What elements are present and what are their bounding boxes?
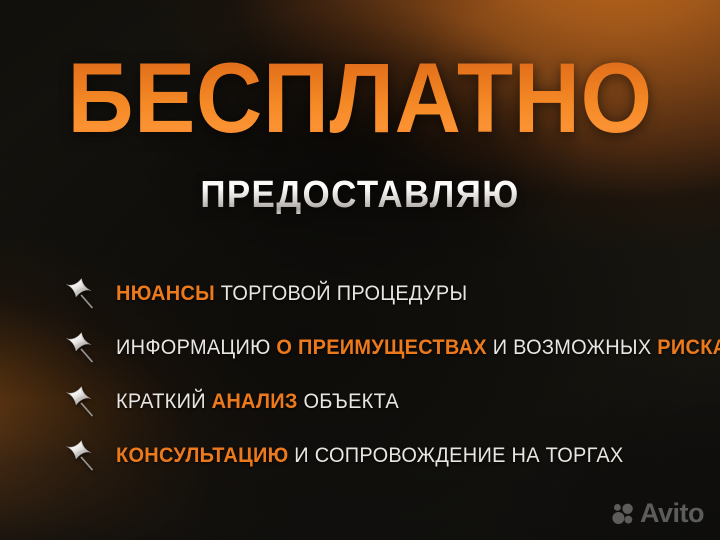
bullet-text-segment: ОБЪЕКТА [298, 390, 399, 413]
pushpin-icon [60, 273, 102, 313]
bullet-text-segment: ИНФОРМАЦИЮ [116, 336, 276, 359]
bullet-item: КРАТКИЙ АНАЛИЗ ОБЪЕКТА [60, 374, 720, 428]
bullet-text-segment: И СОПРОВОЖДЕНИЕ НА ТОРГАХ [288, 444, 623, 467]
bullet-item: ИНФОРМАЦИЮ О ПРЕИМУЩЕСТВАХ И ВОЗМОЖНЫХ Р… [60, 320, 720, 374]
bullet-text-segment: КОНСУЛЬТАЦИЮ [116, 444, 288, 467]
avito-logo-icon [612, 503, 636, 525]
bullet-text-segment: АНАЛИЗ [212, 390, 298, 413]
banner-content: БЕСПЛАТНО ПРЕДОСТАВЛЯЮ НЮАНСЫ ТОРГОВОЙ П… [0, 0, 720, 540]
bullet-text: НЮАНСЫ ТОРГОВОЙ ПРОЦЕДУРЫ [116, 283, 467, 304]
pushpin-icon [60, 435, 102, 475]
pushpin-icon [60, 381, 102, 421]
bullet-text: КРАТКИЙ АНАЛИЗ ОБЪЕКТА [116, 391, 399, 412]
headline: БЕСПЛАТНО [25, 48, 695, 147]
subheadline: ПРЕДОСТАВЛЯЮ [29, 176, 691, 214]
avito-watermark: Avito [612, 500, 704, 527]
pushpin-icon [60, 327, 102, 367]
bullet-item: НЮАНСЫ ТОРГОВОЙ ПРОЦЕДУРЫ [60, 266, 720, 320]
bullet-text: ИНФОРМАЦИЮ О ПРЕИМУЩЕСТВАХ И ВОЗМОЖНЫХ Р… [116, 337, 720, 358]
bullet-text-segment: НЮАНСЫ [116, 282, 215, 305]
bullet-text-segment: ТОРГОВОЙ ПРОЦЕДУРЫ [215, 282, 467, 305]
bullet-text: КОНСУЛЬТАЦИЮ И СОПРОВОЖДЕНИЕ НА ТОРГАХ [116, 445, 624, 466]
bullet-text-segment: КРАТКИЙ [116, 390, 212, 413]
bullet-text-segment: РИСКАХ [657, 336, 720, 359]
promo-banner: БЕСПЛАТНО ПРЕДОСТАВЛЯЮ НЮАНСЫ ТОРГОВОЙ П… [0, 0, 720, 540]
bullet-text-segment: И ВОЗМОЖНЫХ [487, 336, 657, 359]
bullet-text-segment: О ПРЕИМУЩЕСТВАХ [276, 336, 487, 359]
avito-wordmark: Avito [640, 500, 704, 527]
bullet-list: НЮАНСЫ ТОРГОВОЙ ПРОЦЕДУРЫИНФОРМАЦИЮ О ПР… [60, 266, 720, 482]
bullet-item: КОНСУЛЬТАЦИЮ И СОПРОВОЖДЕНИЕ НА ТОРГАХ [60, 428, 720, 482]
